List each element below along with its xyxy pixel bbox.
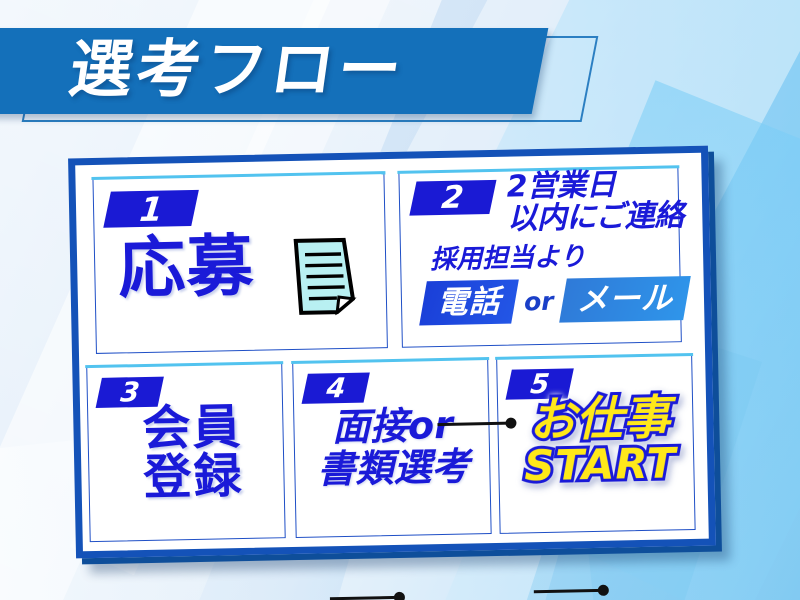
flow-steps-grid: 1 応募 2 2営業日 以内にご連絡 採用担当より 電話 or メール: [68, 146, 716, 559]
step-2-headline-line2: 以内にご連絡: [507, 200, 684, 235]
step-label-3: 会員 登録: [117, 403, 269, 504]
step-label-3-line2: 登録: [118, 451, 269, 503]
step-label-4: 面接or 書類選考: [301, 404, 485, 491]
contact-conjunction: or: [519, 286, 559, 316]
contact-method-row: 電話 or メール: [423, 276, 687, 325]
page-title: 選考フロー: [64, 26, 411, 112]
contact-option-mail[interactable]: メール: [559, 276, 691, 323]
contact-option-phone[interactable]: 電話: [419, 279, 519, 325]
step-badge-1: 1: [103, 190, 199, 228]
step-badge-4: 4: [302, 372, 370, 403]
step-label-5: お仕事 START: [507, 394, 693, 488]
contact-option-mail-label: メール: [576, 283, 673, 316]
step-badge-2: 2: [409, 180, 496, 216]
step-number-3: 3: [119, 379, 141, 406]
step-2-subtext: 採用担当より: [430, 244, 586, 273]
page-title-banner: 選考フロー: [0, 28, 600, 124]
step-label-4-line2: 書類選考: [302, 446, 485, 491]
document-icon: [292, 237, 358, 316]
step-label-4-line1: 面接or: [301, 404, 484, 449]
step-2-headline: 2営業日 以内にご連絡: [506, 168, 684, 235]
connector-dot: [394, 592, 405, 600]
contact-option-phone-label: 電話: [437, 286, 502, 318]
step-label-1: 応募: [118, 233, 255, 303]
step-label-5-line2: START: [508, 442, 693, 488]
step-number-2: 2: [440, 182, 465, 214]
step-number-4: 4: [325, 374, 347, 401]
step-label-3-line1: 会員: [117, 403, 268, 455]
step-number-1: 1: [138, 192, 164, 226]
step-label-5-line1: お仕事: [507, 394, 692, 445]
